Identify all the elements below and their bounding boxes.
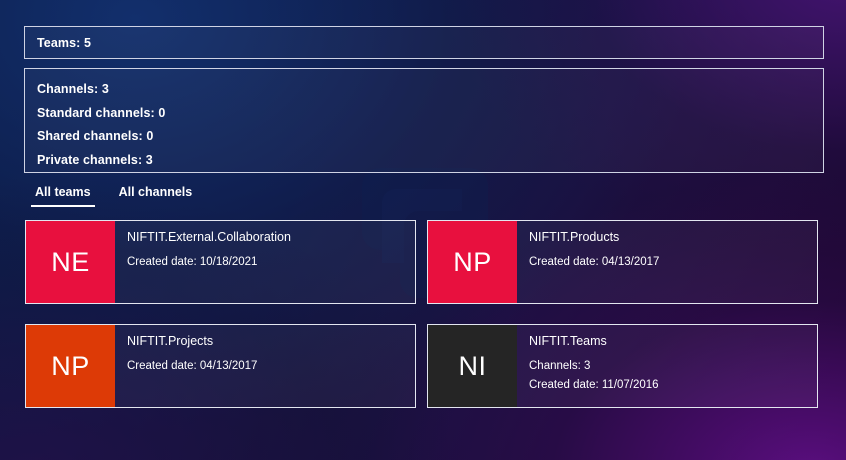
- team-card-body: NIFTIT.Teams Channels: 3 Created date: 1…: [517, 325, 817, 407]
- team-created-date: Created date: 04/13/2017: [127, 359, 405, 374]
- team-card[interactable]: NI NIFTIT.Teams Channels: 3 Created date…: [427, 324, 818, 408]
- team-card[interactable]: NP NIFTIT.Projects Created date: 04/13/2…: [25, 324, 416, 408]
- avatar: NE: [26, 221, 115, 303]
- team-name: NIFTIT.Products: [529, 230, 807, 245]
- team-created-date: Created date: 11/07/2016: [529, 378, 807, 393]
- teams-count-label: Teams: 5: [25, 36, 91, 50]
- team-card-body: NIFTIT.Projects Created date: 04/13/2017: [115, 325, 415, 407]
- team-card-grid: NE NIFTIT.External.Collaboration Created…: [25, 220, 823, 408]
- team-card[interactable]: NP NIFTIT.Products Created date: 04/13/2…: [427, 220, 818, 304]
- team-created-date: Created date: 04/13/2017: [529, 255, 807, 270]
- tab-all-channels[interactable]: All channels: [115, 183, 197, 207]
- team-name: NIFTIT.Teams: [529, 334, 807, 349]
- private-channels-label: Private channels: 3: [25, 149, 823, 173]
- team-card-body: NIFTIT.External.Collaboration Created da…: [115, 221, 415, 303]
- app-root: Teams: 5 Channels: 3 Standard channels: …: [0, 0, 846, 460]
- team-channels-count: Channels: 3: [529, 359, 807, 374]
- team-card[interactable]: NE NIFTIT.External.Collaboration Created…: [25, 220, 416, 304]
- channels-total-label: Channels: 3: [25, 78, 823, 102]
- team-card-body: NIFTIT.Products Created date: 04/13/2017: [517, 221, 817, 303]
- team-created-date: Created date: 10/18/2021: [127, 255, 405, 270]
- avatar: NP: [26, 325, 115, 407]
- team-name: NIFTIT.External.Collaboration: [127, 230, 405, 245]
- avatar: NI: [428, 325, 517, 407]
- teams-summary-panel: Teams: 5: [24, 26, 824, 59]
- tab-bar: All teams All channels: [31, 183, 196, 207]
- avatar: NP: [428, 221, 517, 303]
- team-name: NIFTIT.Projects: [127, 334, 405, 349]
- standard-channels-label: Standard channels: 0: [25, 102, 823, 126]
- shared-channels-label: Shared channels: 0: [25, 125, 823, 149]
- tab-all-teams[interactable]: All teams: [31, 183, 95, 207]
- channels-summary-panel: Channels: 3 Standard channels: 0 Shared …: [24, 68, 824, 173]
